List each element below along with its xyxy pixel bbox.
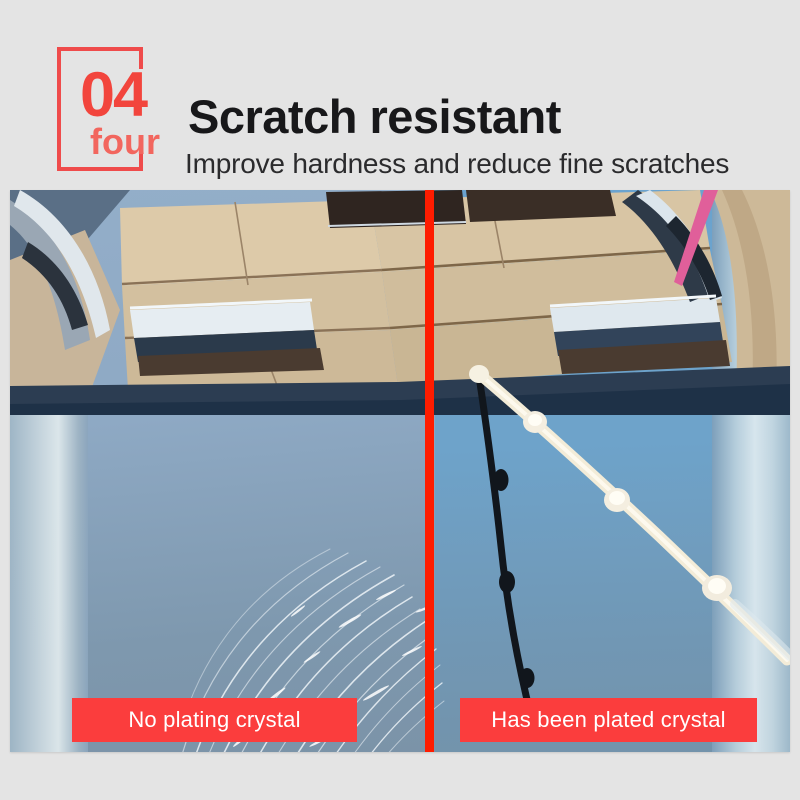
left-caption-banner: No plating crystal — [72, 698, 357, 742]
comparison-divider — [425, 190, 434, 752]
rope-paths — [435, 360, 790, 752]
step-badge: 04 four — [57, 47, 173, 171]
step-number: 04 — [80, 65, 146, 125]
header: 04 four Scratch resistant Improve hardne… — [0, 0, 800, 190]
badge-bracket-top-edge — [57, 47, 143, 51]
badge-bracket-left-edge — [57, 47, 61, 171]
comparison-photo: No plating crystal Has been plated cryst… — [10, 190, 790, 752]
left-caption-text: No plating crystal — [128, 707, 300, 733]
rope-reflection — [435, 360, 790, 752]
right-caption-text: Has been plated crystal — [491, 707, 726, 733]
page-title: Scratch resistant — [188, 91, 561, 143]
right-caption-banner: Has been plated crystal — [460, 698, 757, 742]
page-subtitle: Improve hardness and reduce fine scratch… — [185, 148, 729, 180]
badge-bracket-bottom-edge — [57, 167, 143, 171]
step-number-word: four — [90, 123, 160, 161]
